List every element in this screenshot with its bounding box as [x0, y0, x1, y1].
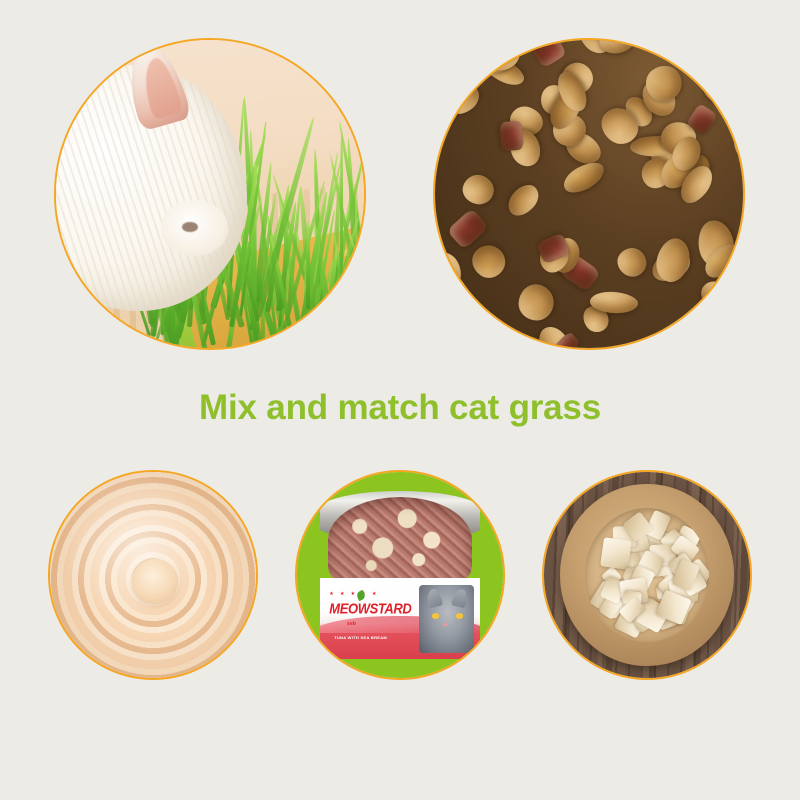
kibble-meat-chunk — [499, 121, 524, 152]
kibble-piece — [503, 180, 544, 222]
image-creamy-puree — [48, 470, 258, 680]
label-cat-ear-left — [425, 587, 443, 608]
label-cat-ear-right — [451, 587, 469, 608]
kibble-piece — [459, 171, 497, 208]
image-dry-kibble — [433, 38, 745, 350]
image-canned-cat-food: ★ ★ ★ ★ ★ MEOWSTARD seb TUNA WITH SEA BR… — [295, 470, 505, 680]
flavor-text: TUNA WITH SEA BREAM — [334, 635, 387, 640]
page-title: Mix and match cat grass — [0, 388, 800, 428]
food-can: ★ ★ ★ ★ ★ MEOWSTARD seb TUNA WITH SEA BR… — [320, 491, 481, 660]
kibble-piece — [596, 38, 639, 57]
label-cat-photo — [419, 585, 474, 653]
can-label: ★ ★ ★ ★ ★ MEOWSTARD seb TUNA WITH SEA BR… — [320, 578, 481, 659]
label-cat-eye-right — [456, 613, 463, 618]
kibble-piece — [612, 243, 652, 282]
label-cat-eye-left — [432, 613, 439, 618]
kibble-artwork — [435, 40, 743, 348]
kibble-piece — [433, 339, 463, 350]
image-cat-eating-cat-grass — [54, 38, 366, 350]
grass-blade — [365, 194, 366, 306]
cat-grass-artwork — [56, 40, 364, 348]
cat-nose — [182, 222, 197, 232]
promo-page: Mix and match cat grass ★ ★ ★ ★ ★ MEOWST… — [0, 0, 800, 800]
puree-artwork — [50, 472, 256, 678]
wooden-bowl-interior — [585, 508, 710, 642]
kibble-piece — [451, 312, 487, 340]
freeze-dried-cube-pile — [585, 508, 710, 642]
kibble-meat-chunk — [529, 38, 568, 69]
can-artwork: ★ ★ ★ ★ ★ MEOWSTARD seb TUNA WITH SEA BR… — [297, 472, 503, 678]
kibble-pieces — [435, 40, 743, 348]
wooden-bowl — [560, 484, 733, 665]
image-freeze-dried-cubes — [542, 470, 752, 680]
puree-center-peak — [132, 559, 177, 604]
brand-subtext: seb — [347, 621, 356, 627]
kibble-piece — [466, 238, 512, 284]
kibble-piece — [689, 38, 738, 80]
freeze-dried-cube — [600, 537, 631, 569]
brand-name: MEOWSTARD — [329, 600, 411, 617]
kibble-piece — [433, 245, 468, 297]
label-cat-nose — [443, 623, 448, 626]
kibble-piece — [727, 119, 745, 170]
cubes-artwork — [544, 472, 750, 678]
kibble-piece — [518, 284, 555, 322]
kibble-piece — [701, 75, 745, 112]
label-stars: ★ ★ ★ ★ ★ — [329, 591, 379, 597]
kibble-meat-chunk — [447, 208, 489, 250]
